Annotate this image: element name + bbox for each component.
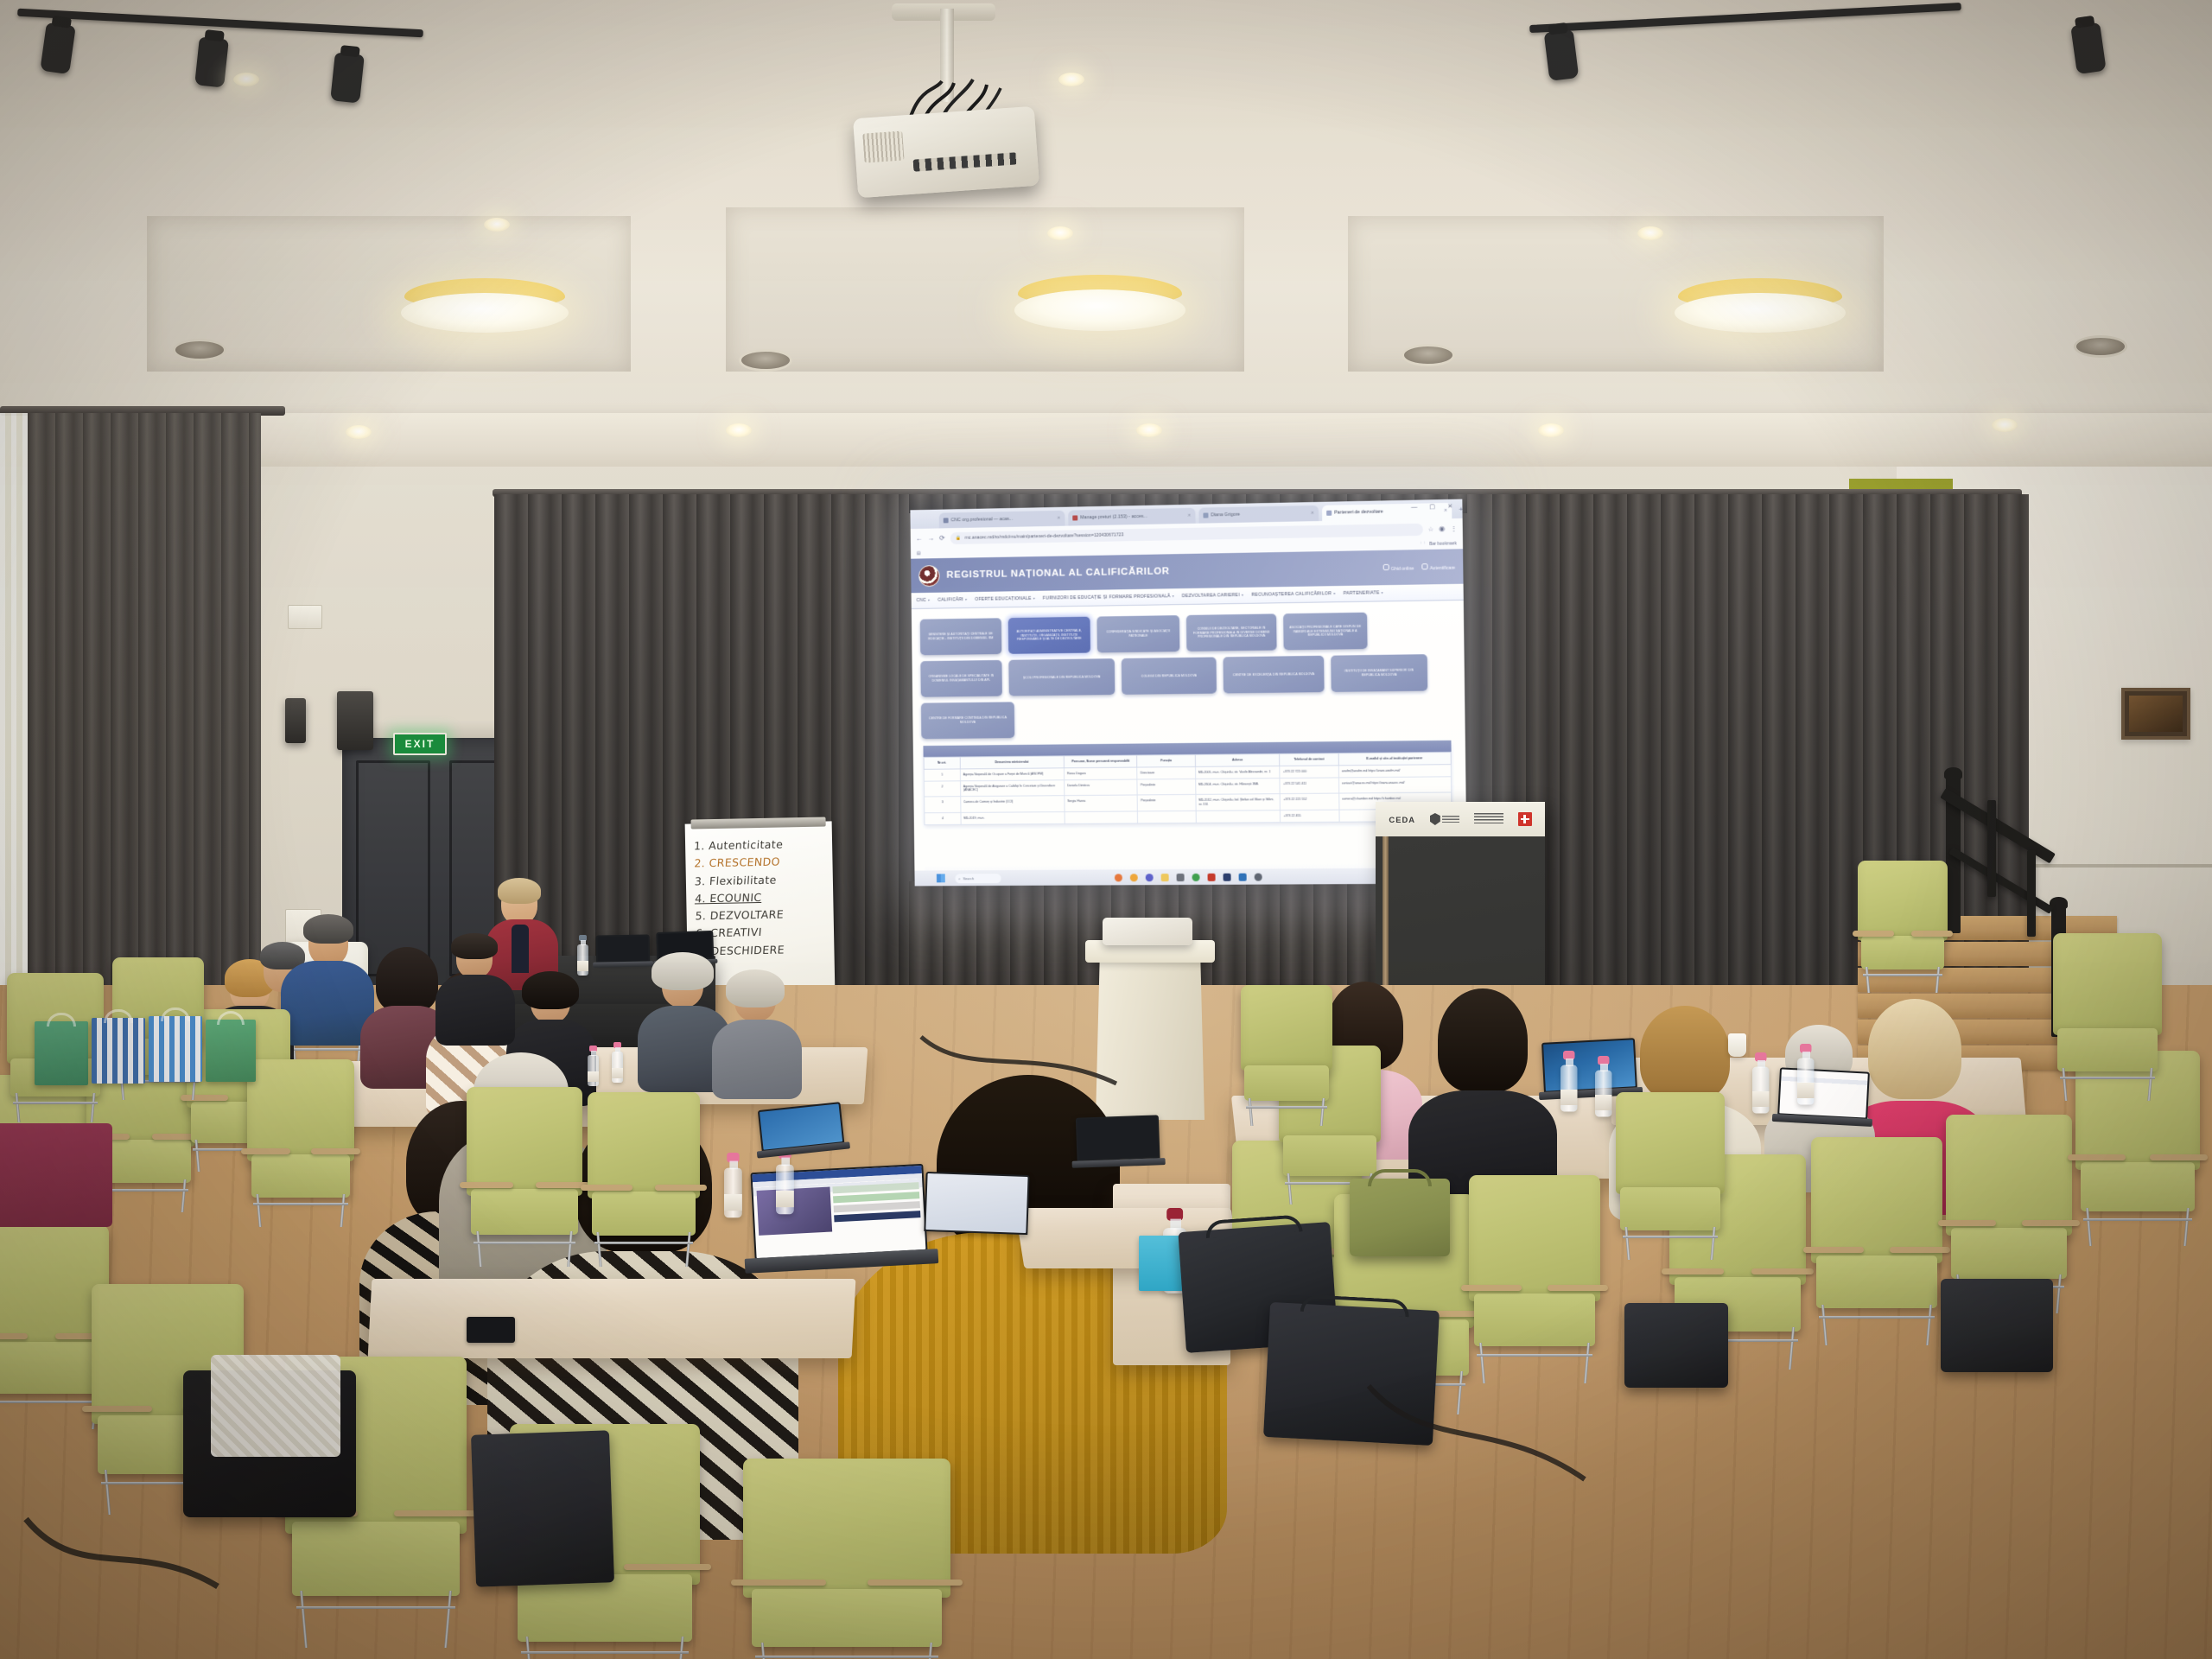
category-tile[interactable]: CENTRE DE EXCELENȚĂ DIN REPUBLICA MOLDOV… <box>1223 656 1324 694</box>
cell-address: MD-2012, mun. Chișinău, bd. Ștefan cel M… <box>1196 794 1281 810</box>
explorer-icon[interactable] <box>1160 874 1168 881</box>
teams-icon[interactable] <box>1145 874 1153 881</box>
bookmark-star-icon[interactable]: ☆ <box>1428 525 1433 532</box>
banner-logo-strip: CEDA <box>1376 802 1545 836</box>
profile-avatar[interactable]: ◉ <box>1439 524 1445 532</box>
menu-kebab-icon[interactable]: ⋮ <box>1450 524 1457 532</box>
chevron-down-icon: ▾ <box>1033 596 1035 601</box>
bookmark-label[interactable]: Bar bookmark <box>1429 541 1457 547</box>
flipchart-clamp <box>690 817 826 829</box>
ceiling-spot <box>1538 423 1564 437</box>
ceiling-spot <box>1992 418 2018 432</box>
track-light-head[interactable] <box>330 52 365 103</box>
cell-phone: +373 22 455 <box>1281 810 1339 822</box>
ceiling-spot <box>233 73 259 86</box>
flipchart-item: 2. CRESCENDO <box>694 853 833 873</box>
th-phone: Telefonul de contact <box>1280 753 1338 766</box>
chair[interactable] <box>1616 1092 1725 1256</box>
ceiling-spot <box>1637 226 1663 240</box>
edge-icon[interactable] <box>1114 874 1122 881</box>
ceiling-spot <box>346 425 372 439</box>
cell-person <box>1065 811 1138 823</box>
cell-role: Președinte <box>1137 779 1195 795</box>
cell-person: Daniela Dimitrov <box>1065 779 1138 796</box>
pendant-lamp <box>1018 275 1182 332</box>
category-tile[interactable]: ȘCOLI PROFESIONALE DIN REPUBLICA MOLDOVA <box>1008 658 1115 696</box>
firefox-icon[interactable] <box>1129 874 1137 881</box>
cell-nr: 3 <box>925 797 961 813</box>
nav-item-recunoastere[interactable]: RECUNOAȘTEREA CALIFICĂRILOR▾ <box>1251 591 1335 598</box>
th-ministry: Denumirea ministerului <box>960 756 1064 769</box>
forward-icon[interactable]: → <box>927 534 934 542</box>
calc-icon[interactable] <box>1223 873 1230 880</box>
participant-blue-shirt <box>289 921 369 1042</box>
lock-icon: 🔒 <box>956 535 961 540</box>
chair[interactable] <box>1811 1137 1942 1341</box>
laptop-centre[interactable] <box>1076 1115 1160 1178</box>
cell-person: Raisa Dogaru <box>1064 767 1137 780</box>
lace-scarf[interactable] <box>211 1355 340 1457</box>
participant-black-jacket <box>1419 1001 1545 1199</box>
flipchart-item: 6. CREATIVI <box>695 923 834 943</box>
camera-icon[interactable] <box>1176 874 1184 881</box>
ceiling-spot <box>1136 423 1162 437</box>
th-address: Adresa <box>1195 753 1280 766</box>
chair[interactable] <box>247 1059 354 1224</box>
nav-item-oferte[interactable]: OFERTE EDUCAȚIONALE▾ <box>975 596 1035 602</box>
cell-nr: 1 <box>924 769 960 781</box>
smartphone[interactable] <box>467 1317 515 1343</box>
login-icon <box>1421 563 1427 569</box>
favicon <box>1203 512 1208 518</box>
category-tile[interactable]: CONFEDERAȚIA SINDICATE ȘI ASOCIAȚII PATR… <box>1096 615 1179 652</box>
chevron-down-icon: ▾ <box>965 597 967 601</box>
projector-pole <box>940 9 954 102</box>
chevron-down-icon: ▾ <box>1382 590 1384 594</box>
mail-icon[interactable] <box>1238 873 1246 880</box>
conference-room-photo: EXIT CNC org.profesional — acas... ✕ Man… <box>0 0 2212 1659</box>
air-vent <box>2074 335 2127 358</box>
ceiling-spot <box>1058 73 1084 86</box>
chair[interactable] <box>2053 933 2162 1097</box>
participant-magenta <box>0 1123 112 1227</box>
bag[interactable] <box>1624 1303 1728 1388</box>
cell-role: Directoare <box>1137 766 1195 779</box>
category-tile[interactable]: CONSILII DE DEZVOLTARE, SECTORIALE ÎN FO… <box>1186 613 1277 652</box>
wall-control-box[interactable] <box>288 605 322 629</box>
participant <box>441 938 510 1042</box>
category-tile[interactable]: CENTRE DE FORMARE CONTINUĂ DIN REPUBLICA… <box>921 702 1014 739</box>
flipchart-item: 7. DESCHIDERE <box>696 940 835 960</box>
tab-title: CNC org.profesional — acas... <box>950 517 1013 523</box>
start-icon[interactable] <box>937 874 945 882</box>
ceiling-spot <box>484 218 510 232</box>
chevron-down-icon: ▾ <box>1172 594 1174 598</box>
tab-close-icon[interactable]: ✕ <box>1311 511 1314 516</box>
track-light-head[interactable] <box>194 36 229 87</box>
chevron-down-icon: ▾ <box>1242 593 1244 597</box>
tablet-foreground[interactable] <box>923 1172 1029 1258</box>
black-bag[interactable] <box>471 1430 614 1586</box>
tote-bag[interactable] <box>206 1020 256 1082</box>
wall-speaker <box>285 698 306 743</box>
office-icon[interactable] <box>1207 873 1215 880</box>
swiss-flag-logo <box>1518 812 1532 826</box>
search-placeholder: Search <box>963 876 975 880</box>
chevron-down-icon: ▾ <box>928 598 930 602</box>
window-curtain-left[interactable] <box>28 413 261 1028</box>
nav-item-cariera[interactable]: DEZVOLTAREA CARIEREI▾ <box>1182 593 1243 599</box>
pendant-lamp <box>404 278 565 334</box>
laptop-mid[interactable] <box>758 1102 846 1167</box>
tab-title: Diana Grigore <box>1211 512 1240 518</box>
category-tile[interactable]: COLEGII DIN REPUBLICA MOLDOVA <box>1122 658 1217 695</box>
nav-item-cnc[interactable]: CNC▾ <box>917 598 931 603</box>
air-vent <box>173 339 226 361</box>
flipchart-list: 1. Autenticitate 2. CRESCENDO 3. Flexibi… <box>694 835 835 960</box>
category-tile[interactable]: MINISTERE ȘI AUTORITĂȚI CENTRALE DE EDUC… <box>920 618 1002 655</box>
nav-item-calificari[interactable]: CALIFICĂRI▾ <box>938 597 967 602</box>
flipchart-item: 3. Flexibilitate <box>694 870 833 890</box>
ceiling-spot <box>726 423 752 437</box>
tab-title: Manage preturi (2.153) - acces... <box>1080 514 1147 520</box>
air-vent <box>1402 344 1455 366</box>
site-title: REGISTRUL NAȚIONAL AL CALIFICĂRILOR <box>946 566 1169 580</box>
chair[interactable] <box>1858 861 1948 990</box>
participant <box>715 976 798 1097</box>
th-contact: E-mailul și site-ul instituției partener… <box>1338 752 1451 765</box>
cell-phone: +373 22 721 000 <box>1280 766 1338 779</box>
pendant-lamp <box>1678 278 1842 334</box>
favicon <box>1326 511 1332 516</box>
th-role: Funcția <box>1137 754 1195 766</box>
exit-sign-label: EXIT <box>405 738 435 750</box>
cell-person: Sergiu Harea <box>1065 795 1138 811</box>
site-header-links: Ghid online Autentificare <box>1383 563 1456 572</box>
cell-nr: 4 <box>925 812 961 824</box>
cell-phone: +373 22 221 552 <box>1281 793 1339 810</box>
nav-item-parteneriate[interactable]: PARTENERIATE▾ <box>1344 590 1383 596</box>
grid-icon[interactable]: ▤ <box>917 551 921 556</box>
category-tile-selected[interactable]: AUTORITĂȚI ADMINISTRATIVE CENTRALE, INST… <box>1008 617 1090 654</box>
floor-cable <box>916 1030 1123 1099</box>
laptop-right-2[interactable] <box>1777 1067 1870 1137</box>
sdc-logo <box>1474 813 1503 825</box>
help-icon <box>1383 563 1389 569</box>
cell-phone: +373 22 541 411 <box>1280 777 1338 793</box>
track-light-head[interactable] <box>1544 29 1580 81</box>
tote-bag[interactable] <box>92 1018 145 1084</box>
category-tiles: MINISTERE ȘI AUTORITĂȚI CENTRALE DE EDUC… <box>912 606 1465 744</box>
cell-contact[interactable]: contact@anacec.md https://www.anacec.md/ <box>1338 776 1452 793</box>
floor-cable <box>17 1503 225 1599</box>
rnc-logo-icon <box>918 565 940 587</box>
cell-role: Președinte <box>1138 795 1196 811</box>
chair[interactable] <box>467 1087 582 1263</box>
th-person: Prenume, Nume persoană responsabilă <box>1064 755 1137 767</box>
favicon <box>1072 515 1077 520</box>
favicon <box>944 518 949 523</box>
settings-icon[interactable] <box>1254 873 1262 880</box>
paper-cup[interactable] <box>1728 1033 1746 1057</box>
chevron-down-icon: ▾ <box>1333 591 1336 595</box>
login-link[interactable]: Autentificare <box>1421 563 1455 571</box>
cell-ministry: Agenția Națională de Ocupare a Forței de… <box>960 767 1064 780</box>
nav-item-furnizori[interactable]: FURNIZORI DE EDUCAȚIE ȘI FORMARE PROFESI… <box>1043 594 1174 601</box>
stair-baluster <box>1987 800 1996 897</box>
category-tile[interactable]: ASOCIAȚII PROFESIONALE CARE DISPUN DE RA… <box>1283 613 1367 651</box>
cell-address <box>1196 810 1281 823</box>
search-icon: ⌕ <box>958 876 960 880</box>
stair-baluster <box>2027 850 2036 937</box>
guide-link[interactable]: Ghid online <box>1383 563 1414 572</box>
cell-nr: 2 <box>924 780 960 797</box>
floor-cable <box>1365 1382 1590 1486</box>
tab-title: Parteneri de dezvoltare <box>1334 510 1383 516</box>
partners-table: Nr.crt. Denumirea ministerului Prenume, … <box>923 741 1452 825</box>
chair[interactable] <box>1241 985 1332 1123</box>
olive-handbag[interactable] <box>1350 1179 1450 1256</box>
url-text: rnc.anacec.md/ro/rndc/mu/main/parteneri-… <box>965 532 1124 540</box>
framed-picture <box>2121 688 2190 740</box>
cell-ministry: MD-2019, mun. <box>961 811 1065 824</box>
category-tile[interactable]: INSTITUȚII DE ÎNVĂȚĂMÂNT SUPERIOR DIN RE… <box>1331 654 1427 692</box>
ceiling-spot <box>1047 226 1073 240</box>
cell-role <box>1138 810 1196 823</box>
taskbar-search[interactable]: ⌕ Search <box>955 874 1001 883</box>
cell-address: MD-2604, mun. Chișinău, str. Hâncești 38… <box>1195 778 1280 795</box>
ministry-education-logo <box>1430 812 1459 827</box>
window-controls[interactable]: — ▢ ✕ <box>1411 503 1458 511</box>
tote-bag[interactable] <box>149 1016 202 1082</box>
chair[interactable] <box>588 1092 700 1263</box>
bookmark-folder-icon[interactable]: 🗀 <box>1421 541 1425 548</box>
reload-icon[interactable]: ⟳ <box>939 534 945 542</box>
ceiling-projector <box>853 106 1039 198</box>
exit-sign: EXIT <box>393 733 447 755</box>
chair[interactable] <box>1469 1175 1600 1379</box>
presenter-laptop[interactable] <box>596 934 651 973</box>
cell-contact[interactable]: anofm@anofm.md https://www.anofm.md/ <box>1338 764 1451 777</box>
tote-bag[interactable] <box>35 1021 88 1085</box>
th-nr: Nr.crt. <box>924 757 960 769</box>
bag[interactable] <box>1941 1279 2053 1372</box>
tab-close-icon[interactable]: ✕ <box>1057 516 1060 521</box>
second-projector <box>1103 918 1192 945</box>
air-vent <box>739 349 792 372</box>
back-icon[interactable]: ← <box>916 535 923 543</box>
wall-speaker <box>337 691 373 750</box>
cell-ministry: Camera de Comerț și Industrie (CCI) <box>961 796 1065 813</box>
cell-ministry: Agenția Națională de Asigurare a Calităț… <box>960 779 1065 797</box>
tab-close-icon[interactable]: ✕ <box>1187 513 1191 518</box>
chair[interactable] <box>743 1459 950 1659</box>
category-tile[interactable]: ORGANISME LOCALE DE SPECIALITATE ÎN DOME… <box>920 660 1002 697</box>
ceda-logo: CEDA <box>1389 815 1415 824</box>
chrome-icon[interactable] <box>1192 873 1199 880</box>
cell-address: MD-2005, mun. Chișinău, str. Vasile Alec… <box>1195 766 1280 779</box>
